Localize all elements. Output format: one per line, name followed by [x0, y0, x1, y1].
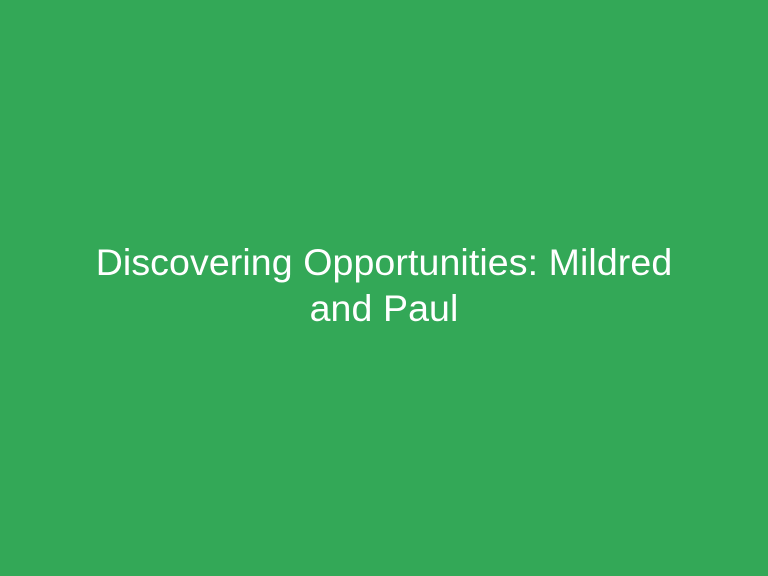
page-title: Discovering Opportunities: Mildred and P…: [84, 239, 684, 331]
placeholder-card: Discovering Opportunities: Mildred and P…: [0, 0, 768, 576]
title-block: Discovering Opportunities: Mildred and P…: [84, 239, 684, 331]
